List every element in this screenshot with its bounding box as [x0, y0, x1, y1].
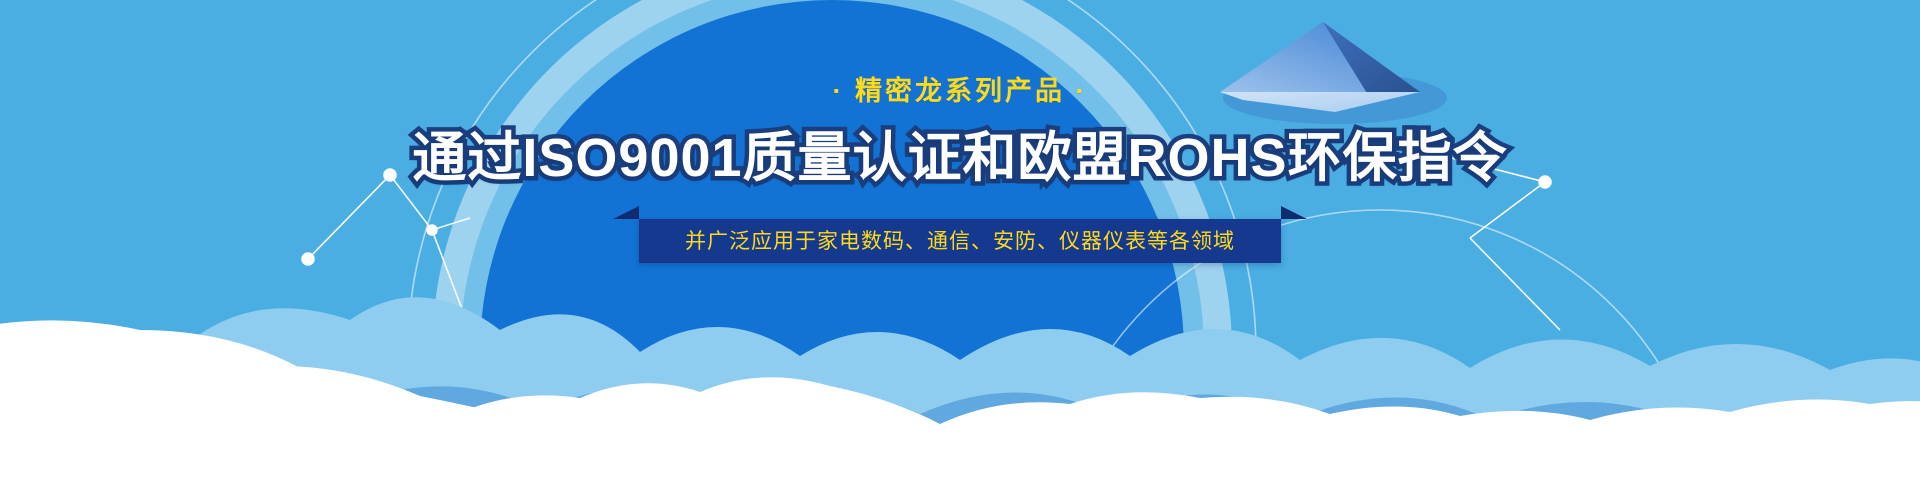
- banner-background: [0, 0, 1920, 480]
- promo-banner: · 精密龙系列产品 · 通过ISO9001质量认证和欧盟ROHS环保指令 并广泛…: [0, 0, 1920, 480]
